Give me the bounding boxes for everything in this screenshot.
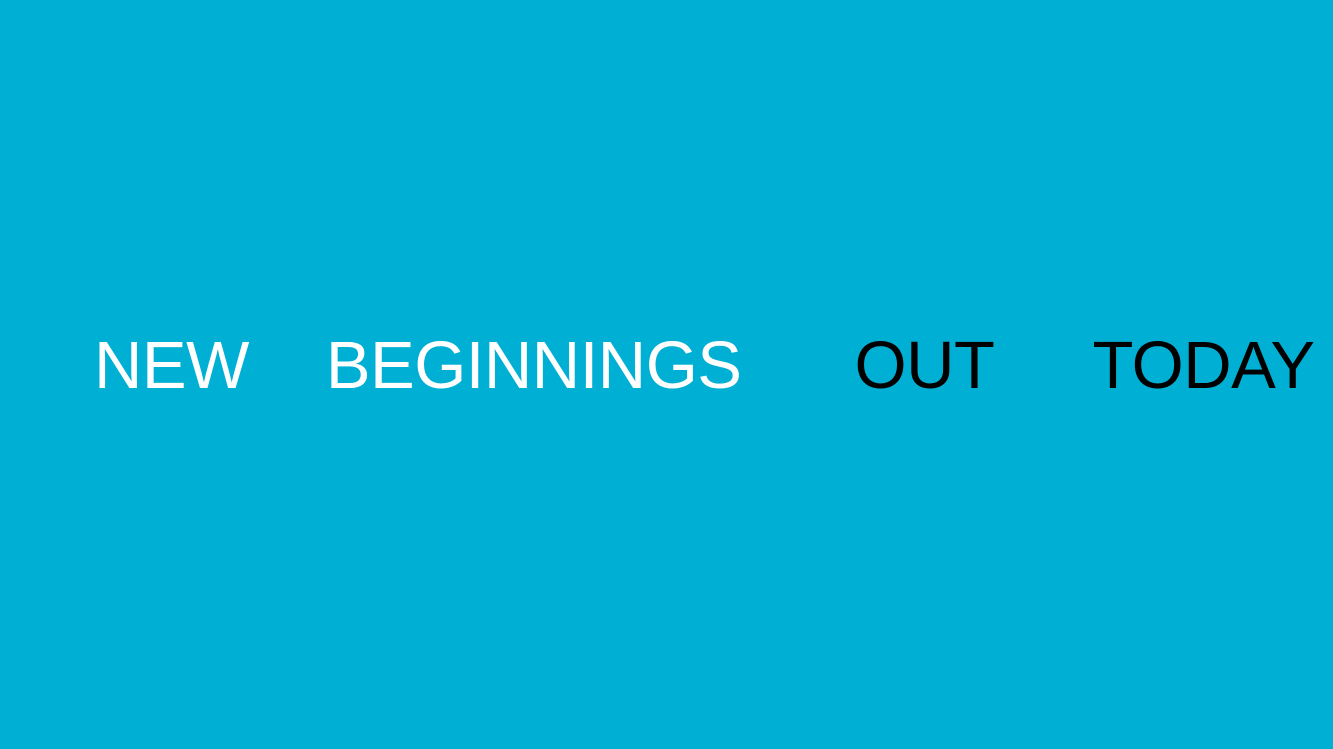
headline-word-today: TODAY (1092, 332, 1314, 399)
headline-word-new: NEW (94, 332, 249, 399)
slide-canvas: NEW BEGINNINGS OUT TODAY (0, 0, 1333, 749)
headline-block: NEW BEGINNINGS OUT TODAY (0, 0, 1333, 749)
headline-word-out: OUT (855, 332, 995, 399)
headline-text-row: NEW BEGINNINGS OUT TODAY (0, 332, 1315, 399)
headline-word-beginnings: BEGINNINGS (326, 332, 742, 399)
